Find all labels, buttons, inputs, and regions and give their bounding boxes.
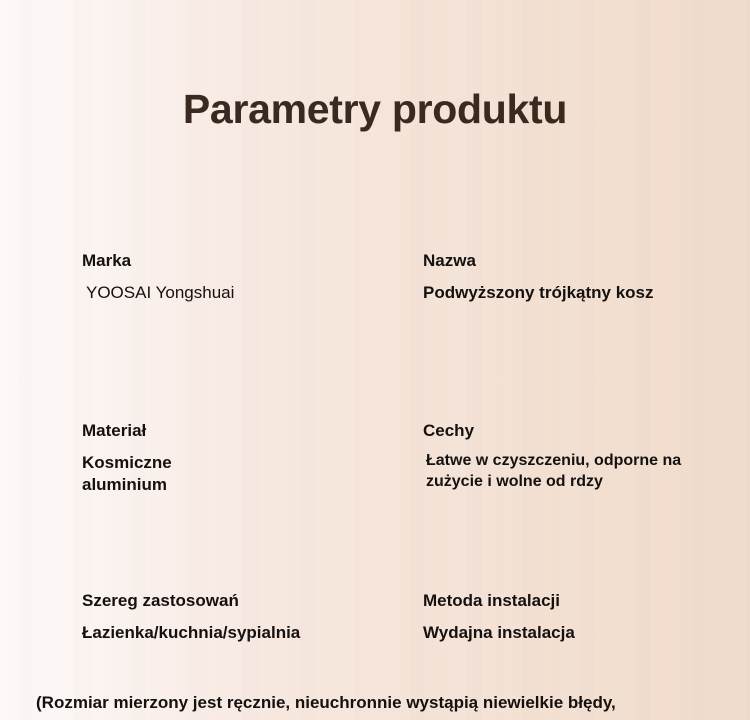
- spec-label-installation: Metoda instalacji: [423, 592, 723, 609]
- spec-label-features: Cechy: [423, 422, 723, 439]
- spec-label-name: Nazwa: [423, 252, 723, 269]
- spec-value-installation: Wydajna instalacja: [423, 622, 723, 644]
- spec-cell-installation: Metoda instalacji Wydajna instalacja: [423, 592, 723, 644]
- spec-value-material: Kosmiczne aluminium: [82, 452, 252, 496]
- spec-value-applications: Łazienka/kuchnia/sypialnia: [82, 622, 412, 644]
- spec-cell-applications: Szereg zastosowań Łazienka/kuchnia/sypia…: [82, 592, 412, 644]
- spec-label-applications: Szereg zastosowań: [82, 592, 412, 609]
- spec-label-material: Materiał: [82, 422, 412, 439]
- spec-value-brand: YOOSAI Yongshuai: [82, 282, 412, 304]
- spec-value-features: Łatwe w czyszczeniu, odporne na zużycie …: [423, 451, 718, 493]
- measurement-disclaimer-footnote: (Rozmiar mierzony jest ręcznie, nieuchro…: [36, 693, 736, 713]
- spec-cell-name: Nazwa Podwyższony trójkątny kosz: [423, 252, 723, 304]
- spec-label-brand: Marka: [82, 252, 412, 269]
- spec-cell-features: Cechy Łatwe w czyszczeniu, odporne na zu…: [423, 422, 723, 493]
- product-parameters-sheet: Parametry produktu Marka YOOSAI Yongshua…: [0, 0, 750, 720]
- spec-cell-material: Materiał Kosmiczne aluminium: [82, 422, 412, 496]
- page-title: Parametry produktu: [0, 86, 750, 133]
- spec-value-name: Podwyższony trójkątny kosz: [423, 282, 723, 304]
- spec-cell-brand: Marka YOOSAI Yongshuai: [82, 252, 412, 304]
